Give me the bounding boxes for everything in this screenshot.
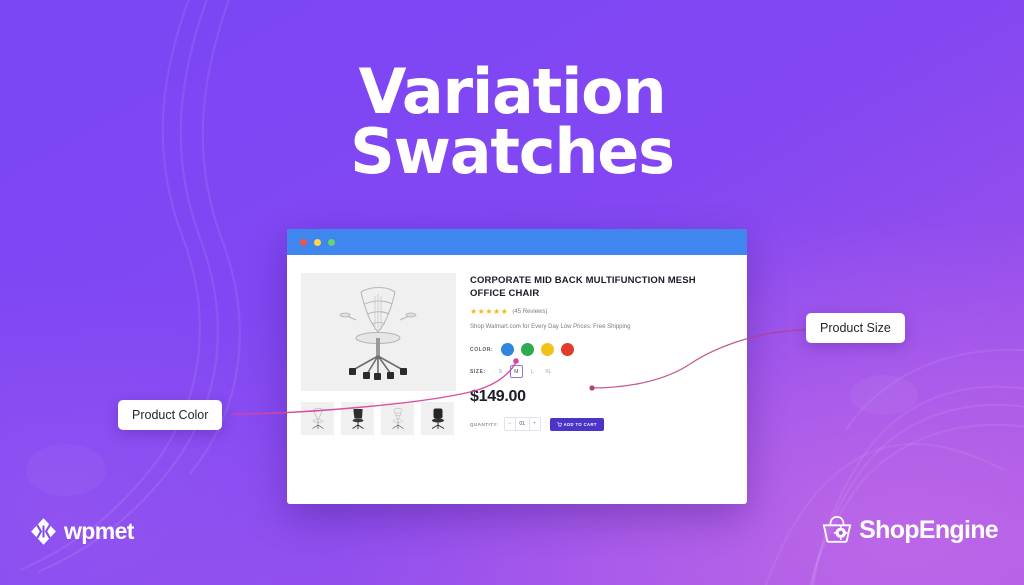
- quantity-increase-button[interactable]: +: [530, 418, 540, 430]
- color-swatch-yellow[interactable]: [541, 343, 554, 356]
- color-swatch-green[interactable]: [521, 343, 534, 356]
- chair-thumb-dark-icon: [427, 407, 449, 431]
- chair-thumb-dark-icon: [347, 407, 369, 431]
- window-close-dot[interactable]: [300, 239, 307, 246]
- thumbnail-item[interactable]: [421, 402, 454, 435]
- color-swatches: [501, 343, 574, 356]
- add-to-cart-label: ADD TO CART: [564, 422, 597, 427]
- quantity-stepper: − 01 +: [504, 417, 541, 431]
- thumbnail-item[interactable]: [341, 402, 374, 435]
- size-option-row: SIZE: S M L XL: [470, 365, 733, 378]
- product-info: CORPORATE MID BACK MULTIFUNCTION MESH OF…: [470, 273, 733, 435]
- color-swatch-blue[interactable]: [501, 343, 514, 356]
- star-rating-icon: ★★★★★: [470, 307, 508, 316]
- browser-window: CORPORATE MID BACK MULTIFUNCTION MESH OF…: [287, 229, 747, 504]
- page-title-line-1: Variation: [0, 62, 1024, 122]
- shopengine-logo-text: ShopEngine: [859, 516, 998, 545]
- thumbnail-item[interactable]: [301, 402, 334, 435]
- size-swatch-s[interactable]: S: [494, 365, 507, 378]
- size-swatch-xl[interactable]: XL: [542, 365, 555, 378]
- chair-illustration: [331, 280, 427, 384]
- wpmet-mark-icon: [30, 518, 57, 545]
- callout-product-color[interactable]: Product Color: [118, 400, 222, 430]
- shopengine-basket-icon: [821, 515, 853, 545]
- product-rating: ★★★★★ (45 Reviews): [470, 307, 733, 316]
- chair-thumb-light-icon: [387, 407, 409, 431]
- product-gallery: [301, 273, 456, 435]
- product-main-image[interactable]: [301, 273, 456, 391]
- size-swatch-l[interactable]: L: [526, 365, 539, 378]
- wpmet-logo[interactable]: wpmet: [30, 518, 134, 545]
- product-price: $149.00: [470, 388, 733, 406]
- cart-row: QUANTITY: − 01 + ADD TO CART: [470, 417, 733, 431]
- chair-thumb-light-icon: [307, 407, 329, 431]
- size-label: SIZE:: [470, 369, 486, 375]
- product-description: Shop Walmart.com for Every Day Low Price…: [470, 323, 733, 332]
- page-title-line-2: Swatches: [0, 122, 1024, 182]
- size-swatches: S M L XL: [494, 365, 555, 378]
- callout-product-size[interactable]: Product Size: [806, 313, 905, 343]
- page-title: Variation Swatches: [0, 62, 1024, 182]
- quantity-value[interactable]: 01: [515, 418, 530, 430]
- color-option-row: COLOR:: [470, 343, 733, 356]
- product-title: CORPORATE MID BACK MULTIFUNCTION MESH OF…: [470, 275, 733, 300]
- thumbnail-list: [301, 402, 456, 435]
- wpmet-logo-text: wpmet: [64, 518, 134, 545]
- window-maximize-dot[interactable]: [328, 239, 335, 246]
- product-page: CORPORATE MID BACK MULTIFUNCTION MESH OF…: [287, 255, 747, 435]
- window-minimize-dot[interactable]: [314, 239, 321, 246]
- color-swatch-red[interactable]: [561, 343, 574, 356]
- browser-titlebar: [287, 229, 747, 255]
- size-swatch-m[interactable]: M: [510, 365, 523, 378]
- add-to-cart-button[interactable]: ADD TO CART: [550, 418, 604, 431]
- quantity-label: QUANTITY:: [470, 422, 499, 427]
- cart-icon: [557, 422, 562, 427]
- thumbnail-item[interactable]: [381, 402, 414, 435]
- color-label: COLOR:: [470, 347, 493, 353]
- review-count[interactable]: (45 Reviews): [512, 309, 547, 315]
- shopengine-logo[interactable]: ShopEngine: [821, 515, 998, 545]
- quantity-decrease-button[interactable]: −: [505, 418, 515, 430]
